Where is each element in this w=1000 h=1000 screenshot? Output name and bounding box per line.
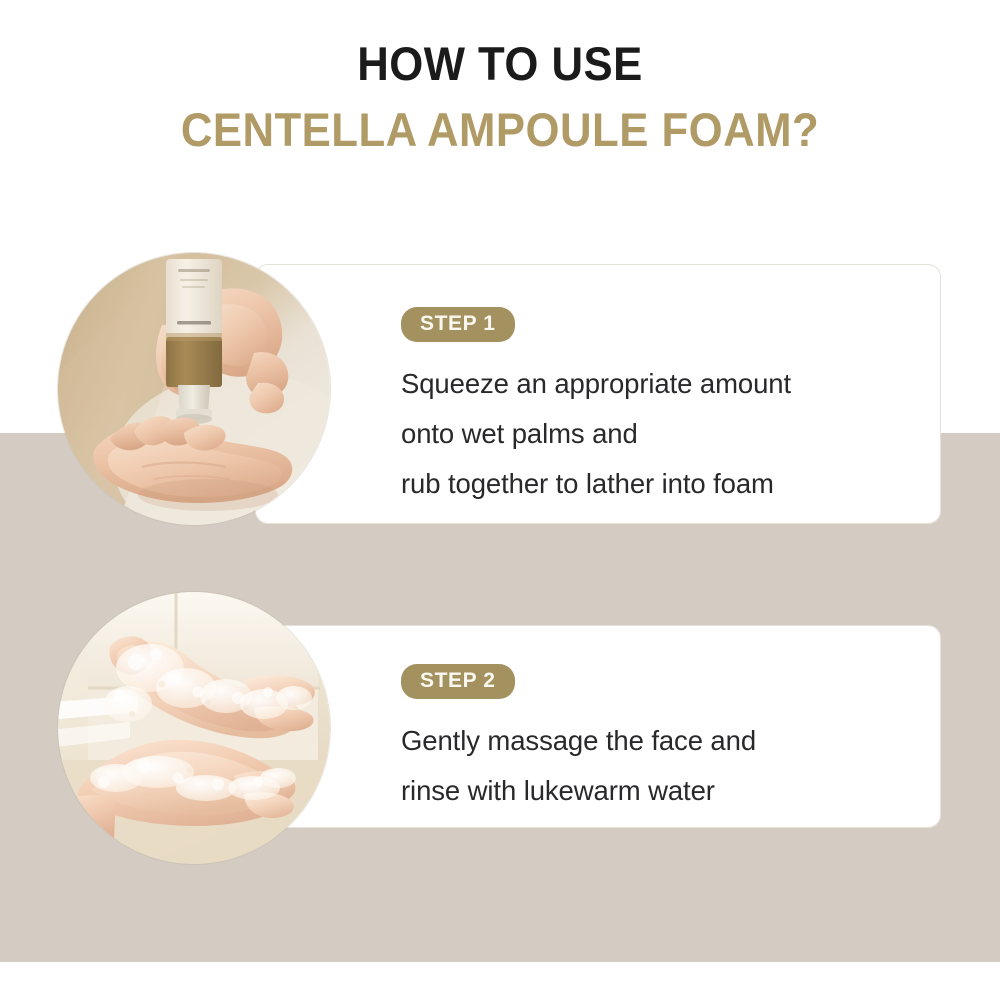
page-title: HOW TO USE CENTELLA AMPOULE FOAM? (0, 36, 1000, 158)
how-to-use-infographic: HOW TO USE CENTELLA AMPOULE FOAM? STEP 1… (0, 0, 1000, 1000)
step-photo-1 (58, 253, 330, 525)
step-row-2: STEP 2 Gently massage the face and rinse… (0, 592, 1000, 865)
page-title-line-1: HOW TO USE (35, 36, 965, 92)
step-text-1-line-1: Squeeze an appropriate amount (401, 359, 940, 409)
step-text-1-line-2: onto wet palms and (401, 409, 940, 459)
step-text-1-line-3: rub together to lather into foam (401, 459, 940, 509)
hands-lathering-foam-image (58, 592, 330, 864)
step-row-1: STEP 1 Squeeze an appropriate amount ont… (0, 253, 1000, 525)
background-band-white-bottom (0, 962, 1000, 1000)
step-photo-2 (58, 592, 330, 864)
page-title-line-2: CENTELLA AMPOULE FOAM? (35, 102, 965, 158)
step-text-2-line-1: Gently massage the face and (401, 716, 940, 766)
step-text-1: Squeeze an appropriate amount onto wet p… (401, 359, 940, 509)
step-badge-1: STEP 1 (401, 307, 515, 342)
step-card-2: STEP 2 Gently massage the face and rinse… (255, 625, 941, 828)
step-text-2-line-2: rinse with lukewarm water (401, 766, 940, 816)
step-text-2: Gently massage the face and rinse with l… (401, 716, 940, 816)
step-card-1: STEP 1 Squeeze an appropriate amount ont… (255, 264, 941, 524)
hand-squeezing-tube-image (58, 253, 330, 525)
step-badge-2: STEP 2 (401, 664, 515, 699)
